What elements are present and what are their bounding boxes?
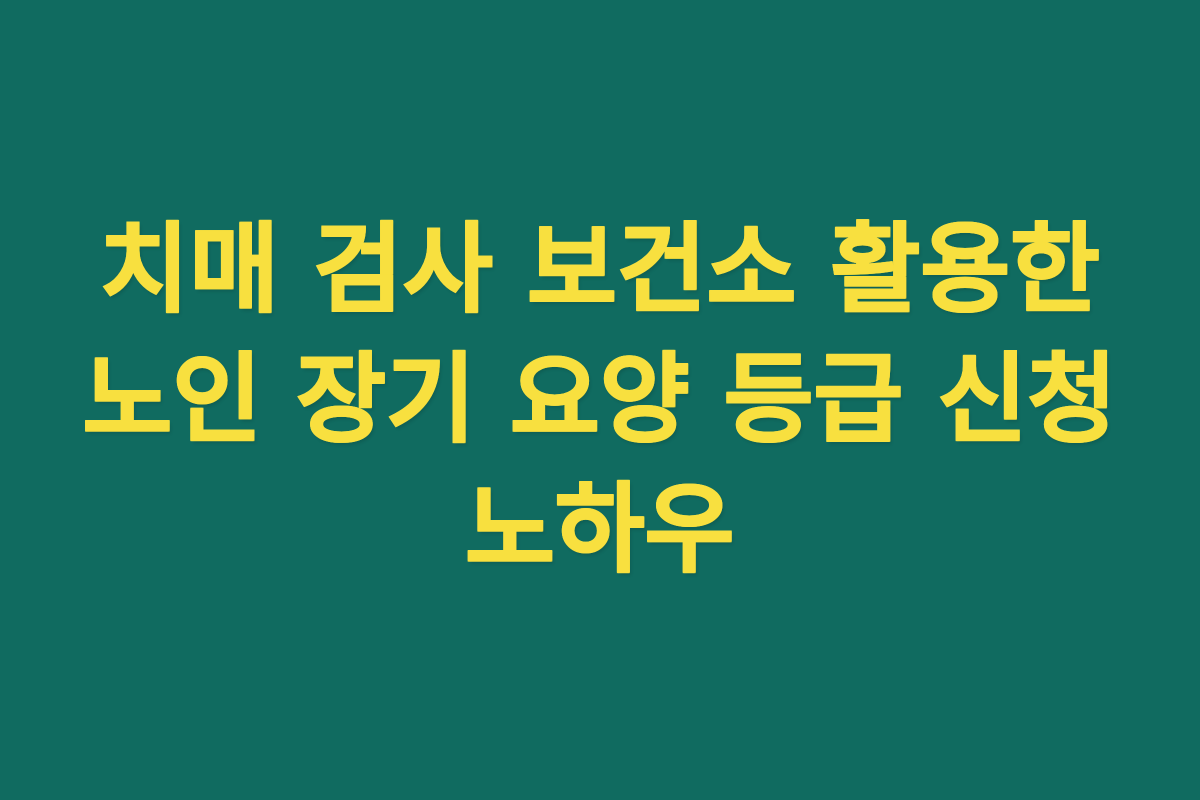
page-title: 치매 검사 보건소 활용한 노인 장기 요양 등급 신청 노하우: [70, 205, 1130, 595]
title-card: 치매 검사 보건소 활용한 노인 장기 요양 등급 신청 노하우: [0, 0, 1200, 800]
